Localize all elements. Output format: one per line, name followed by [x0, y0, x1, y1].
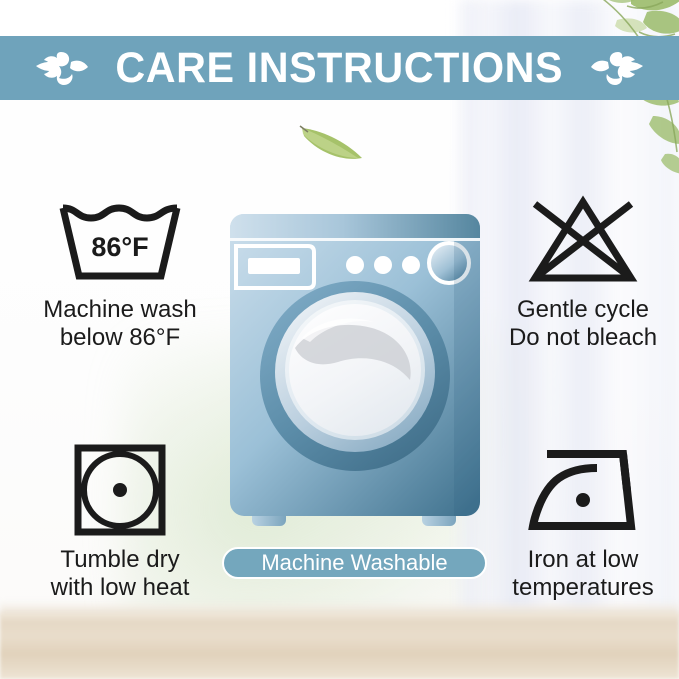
- badge-label: Machine Washable: [261, 552, 447, 574]
- wash-tub-icon: 86°F: [55, 194, 185, 286]
- triangle-crossed-out-icon-wrap: [523, 192, 643, 288]
- detergent-drawer-slot: [248, 258, 300, 274]
- floating-leaf-icon: [298, 122, 368, 164]
- machine-lid: [230, 214, 480, 238]
- washing-machine-illustration: [222, 208, 488, 538]
- iron-low-temperature-icon: [523, 444, 643, 536]
- fleur-de-lis-icon: [32, 48, 88, 88]
- care-symbol-gentle-cycle-no-bleach: Gentle cycle Do not bleach: [478, 192, 679, 353]
- fleur-de-lis-icon: [591, 48, 647, 88]
- tumble-dry-low-heat-icon: [72, 442, 168, 538]
- wash-tub-icon-wrap: 86°F: [55, 192, 185, 288]
- triangle-crossed-out-icon: [523, 194, 643, 286]
- care-symbol-iron-low: Iron at low temperatures: [478, 442, 679, 603]
- machine-side-shadow: [454, 241, 480, 516]
- care-caption: Gentle cycle Do not bleach: [509, 296, 657, 353]
- care-caption: Tumble dry with low heat: [51, 546, 190, 603]
- care-caption: Iron at low temperatures: [512, 546, 653, 603]
- iron-low-temperature-icon-wrap: [523, 442, 643, 538]
- control-indicator-dot: [402, 256, 420, 274]
- tumble-dry-low-heat-icon-wrap: [72, 442, 168, 538]
- control-indicator-dot: [374, 256, 392, 274]
- background-table-surface: [0, 613, 679, 679]
- care-symbol-tumble-dry-low: Tumble dry with low heat: [15, 442, 225, 603]
- wash-temperature-value: 86°F: [91, 232, 148, 262]
- machine-lid-divider: [230, 238, 480, 241]
- header-banner: CARE INSTRUCTIONS: [0, 36, 679, 100]
- page-title: CARE INSTRUCTIONS: [116, 47, 564, 90]
- machine-washable-badge: Machine Washable: [222, 547, 487, 579]
- care-caption: Machine wash below 86°F: [43, 296, 196, 353]
- control-indicator-dot: [346, 256, 364, 274]
- care-instructions-graphic: CARE INSTRUCTIONS: [0, 0, 679, 679]
- care-symbol-machine-wash: 86°F Machine wash below 86°F: [15, 192, 225, 353]
